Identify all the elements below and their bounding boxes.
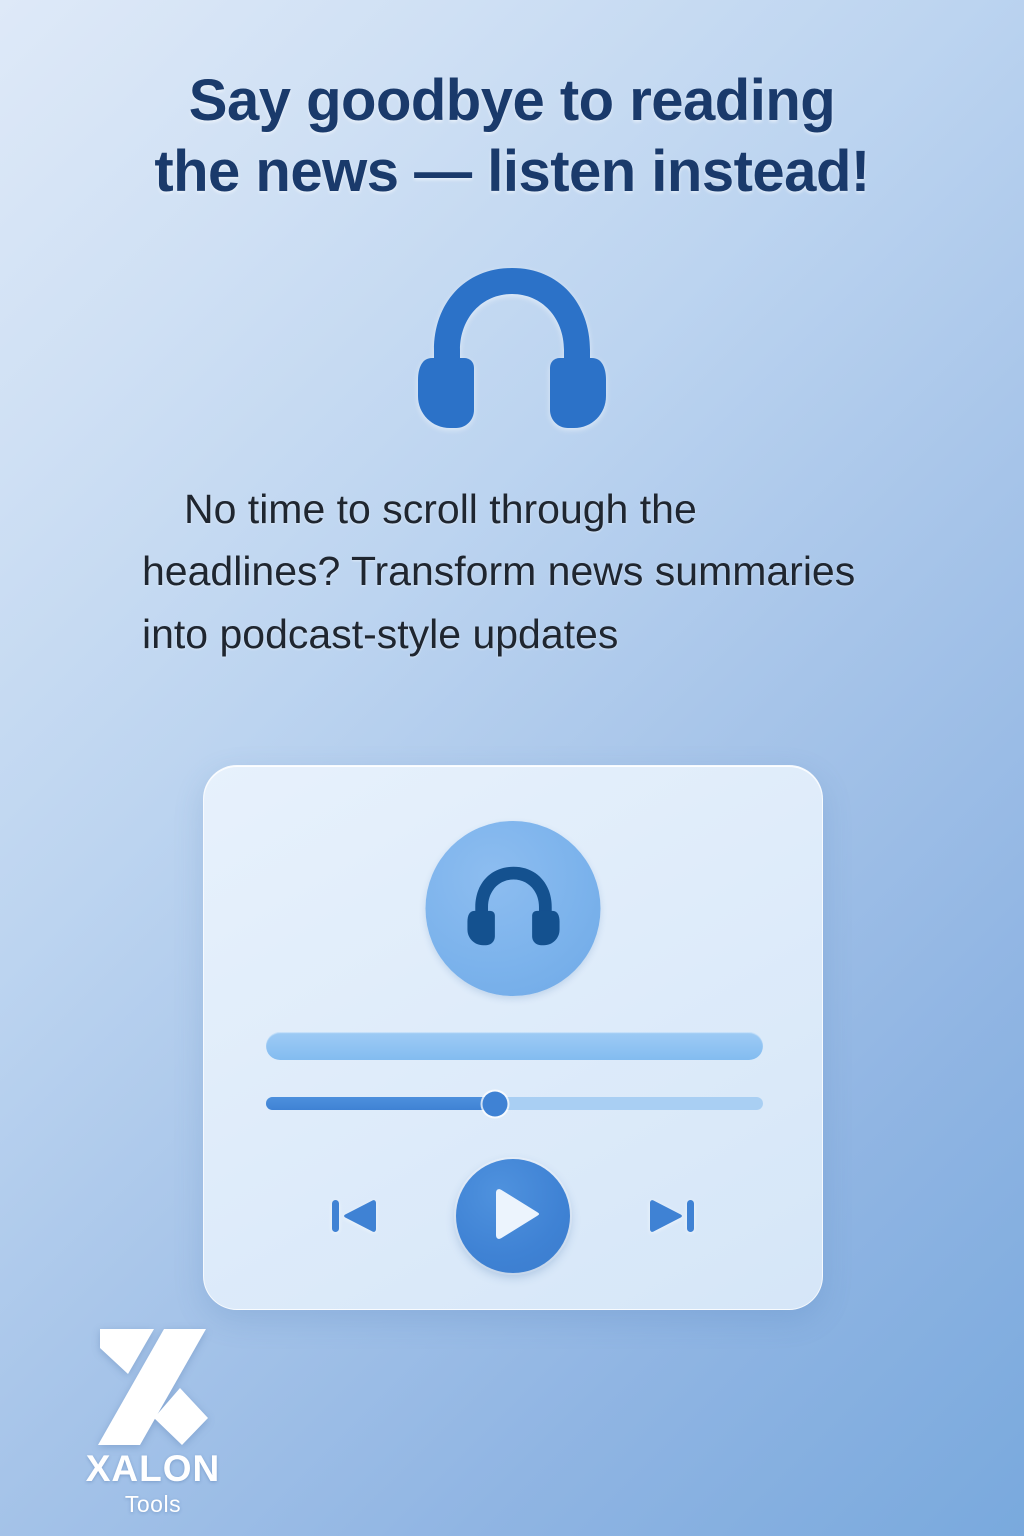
track-title-placeholder-bar	[266, 1032, 763, 1060]
body-text: No time to scroll through the headlines?…	[142, 478, 878, 665]
brand-name: XALON	[58, 1450, 248, 1489]
headphones-icon	[412, 262, 612, 434]
headline-line-1: Say goodbye to reading	[189, 68, 835, 133]
brand-logo: XALON Tools	[58, 1326, 248, 1518]
page-title: Say goodbye to reading the news — listen…	[0, 66, 1024, 208]
headphones-icon	[464, 863, 562, 954]
audio-player-card	[203, 765, 823, 1310]
progress-thumb[interactable]	[482, 1091, 507, 1116]
progress-slider[interactable]	[266, 1097, 763, 1110]
xalon-x-mark-icon	[58, 1326, 248, 1448]
play-button[interactable]	[456, 1159, 570, 1273]
play-icon	[485, 1187, 542, 1246]
playback-controls	[204, 1156, 822, 1276]
player-avatar	[426, 821, 601, 996]
next-track-icon[interactable]	[644, 1189, 698, 1243]
headline-line-2: the news — listen instead!	[154, 139, 869, 204]
previous-track-icon[interactable]	[328, 1189, 382, 1243]
brand-subtitle: Tools	[58, 1491, 248, 1518]
promo-poster: { "poster": { "headline_line1": "Say goo…	[0, 0, 1024, 1536]
progress-fill	[266, 1097, 495, 1110]
